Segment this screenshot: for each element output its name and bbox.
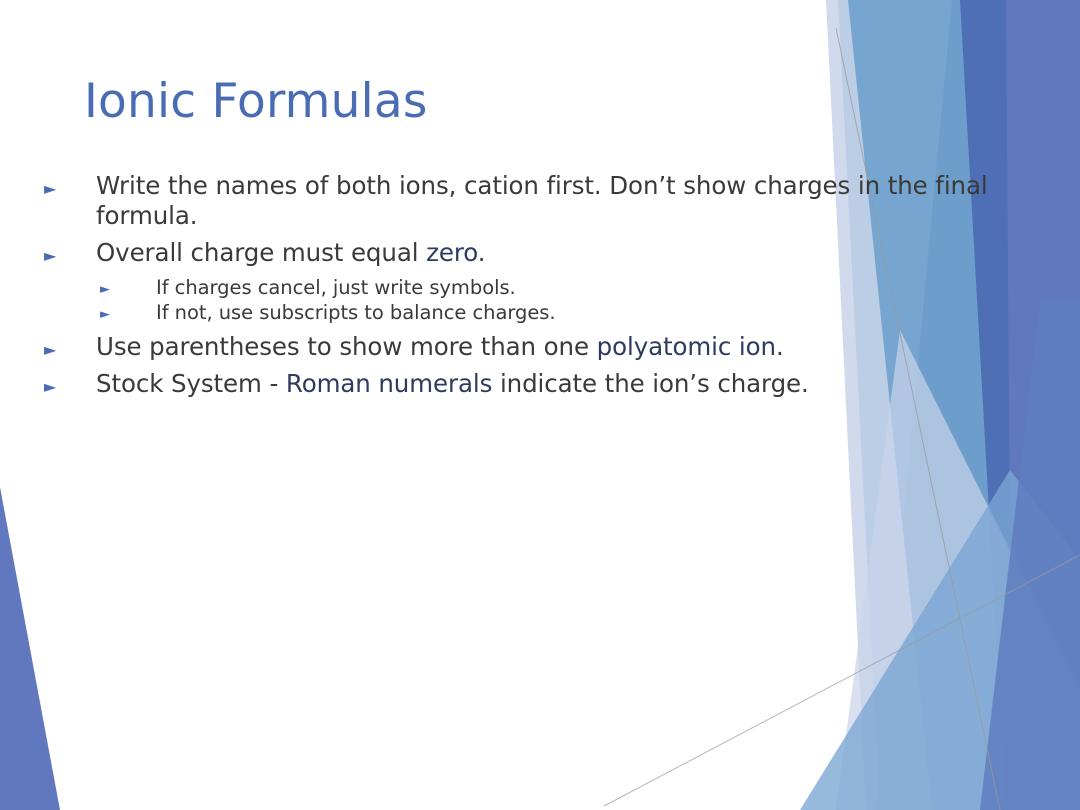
text-segment: Stock System - xyxy=(96,369,286,398)
lower-blue-triangle-shape xyxy=(800,470,1080,810)
thin-diagonal-line-lower xyxy=(604,555,1080,806)
sub-bullet-arrow-icon: ► xyxy=(44,275,156,296)
list-item-text: Write the names of both ions, cation fir… xyxy=(96,171,1004,231)
list-item-text: Stock System - Roman numerals indicate t… xyxy=(96,369,1004,399)
slide-canvas: Ionic Formulas ► Write the names of both… xyxy=(0,0,1080,810)
highlighted-term: zero xyxy=(426,238,478,267)
list-item-text: Use parentheses to show more than one po… xyxy=(96,332,1004,362)
thin-diagonal-line-upper xyxy=(836,28,1000,810)
sub-bullet-list: ► If charges cancel, just write symbols.… xyxy=(44,275,1004,326)
sub-bullet-arrow-icon: ► xyxy=(44,300,156,321)
bullet-arrow-icon: ► xyxy=(44,171,96,197)
bullet-arrow-icon: ► xyxy=(44,332,96,358)
sub-list-item: ► If charges cancel, just write symbols. xyxy=(44,275,1004,300)
list-item: ► Write the names of both ions, cation f… xyxy=(44,171,1004,231)
text-segment: . xyxy=(776,332,784,361)
bullet-arrow-icon: ► xyxy=(44,238,96,264)
bottom-left-wedge-shape xyxy=(0,487,60,810)
sub-list-item: ► If not, use subscripts to balance char… xyxy=(44,300,1004,325)
bullet-arrow-icon: ► xyxy=(44,369,96,395)
text-segment: If not, use subscripts to balance charge… xyxy=(156,301,556,324)
text-segment: Overall charge must equal xyxy=(96,238,426,267)
text-segment: Use parentheses to show more than one xyxy=(96,332,597,361)
list-item: ► Overall charge must equal zero. xyxy=(44,238,1004,268)
list-item: ► Use parentheses to show more than one … xyxy=(44,332,1004,362)
highlighted-term: Roman numerals xyxy=(286,369,492,398)
text-segment: indicate the ion’s charge. xyxy=(492,369,808,398)
sub-list-item-text: If charges cancel, just write symbols. xyxy=(156,275,1004,300)
list-item-text: Overall charge must equal zero. xyxy=(96,238,1004,268)
bullet-list: ► Write the names of both ions, cation f… xyxy=(44,171,1004,406)
highlighted-term: polyatomic ion xyxy=(597,332,776,361)
sub-list-item-text: If not, use subscripts to balance charge… xyxy=(156,300,1004,325)
page-title: Ionic Formulas xyxy=(84,76,428,129)
text-segment: . xyxy=(478,238,486,267)
text-segment: If charges cancel, just write symbols. xyxy=(156,276,516,299)
text-segment: Write the names of both ions, cation fir… xyxy=(96,171,988,230)
list-item: ► Stock System - Roman numerals indicate… xyxy=(44,369,1004,399)
